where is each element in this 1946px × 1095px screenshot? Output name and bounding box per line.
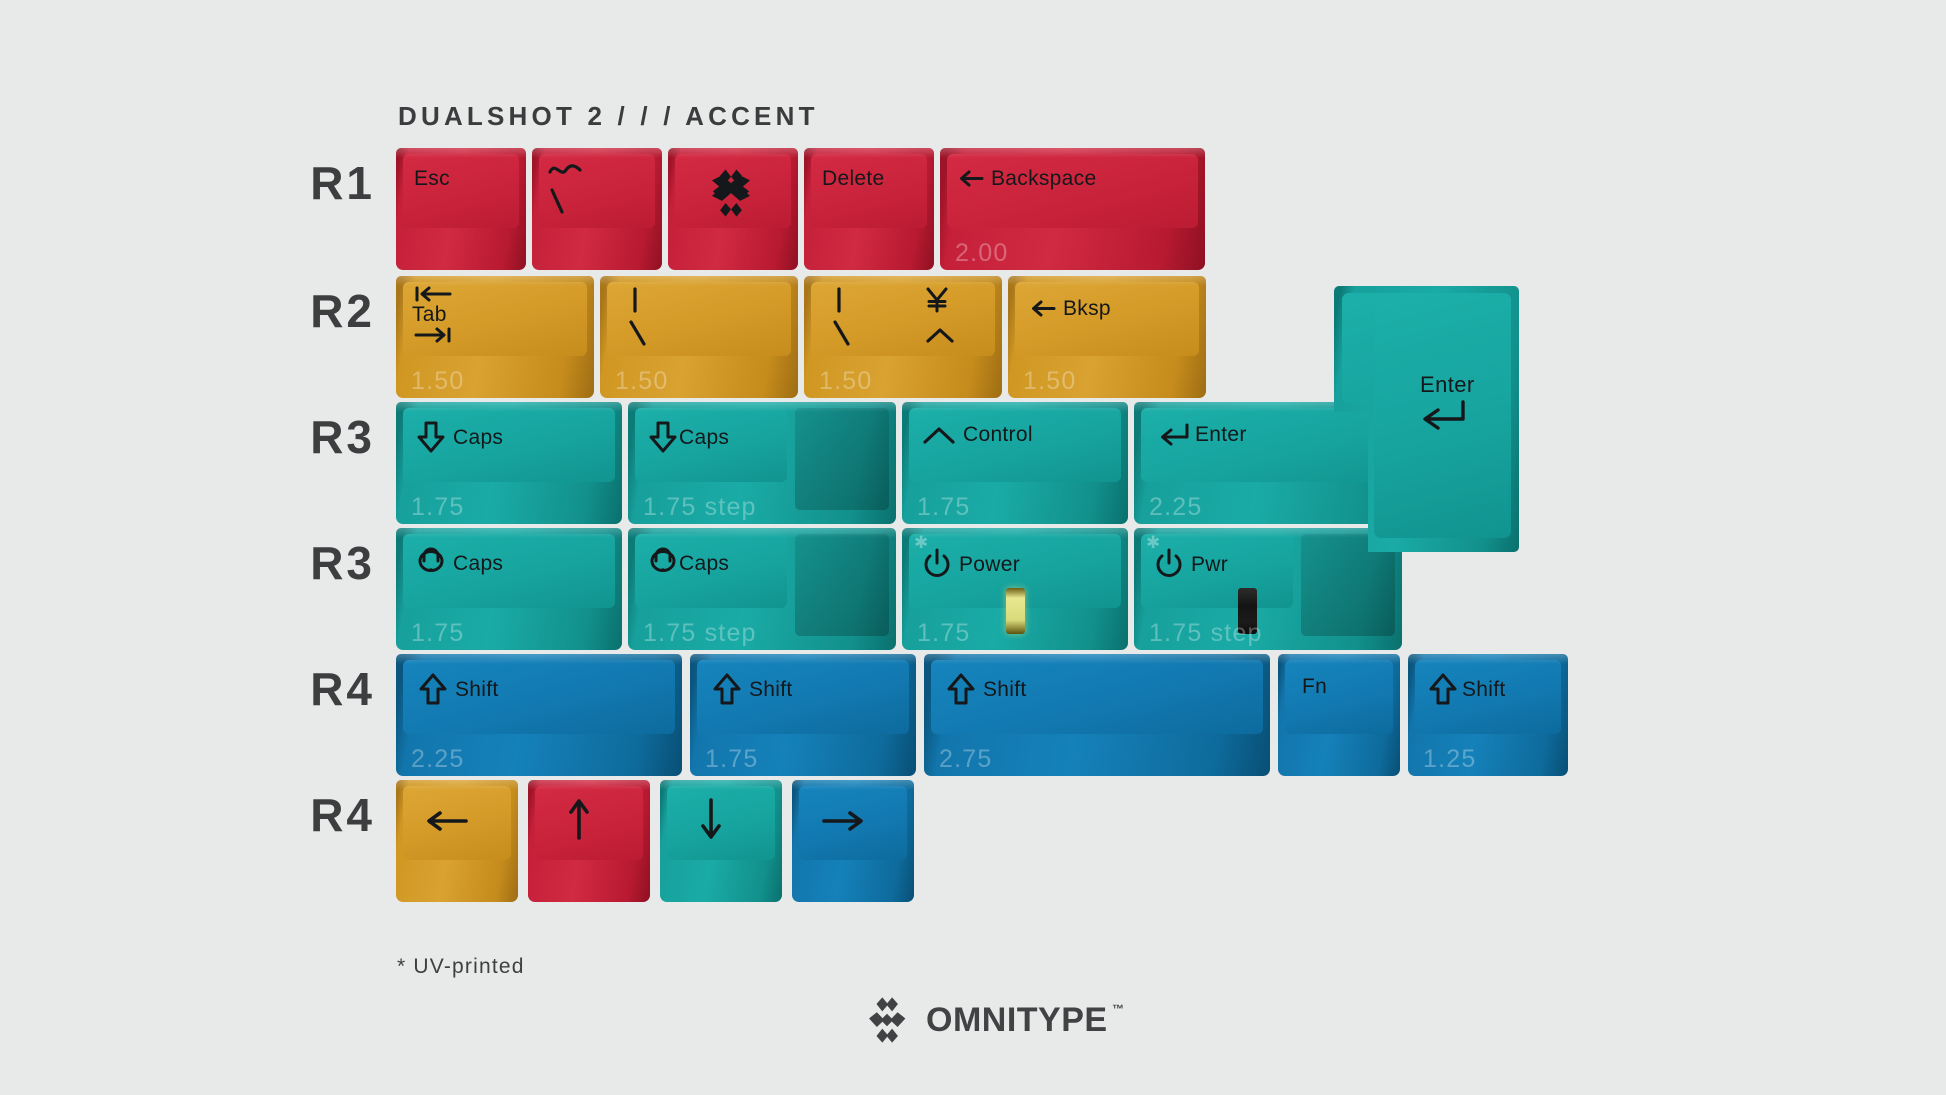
keycap-tilde[interactable]: [532, 148, 662, 270]
pipe-backslash-icon: [626, 286, 650, 348]
keycap-size-label: 1.50: [1023, 369, 1076, 394]
keycap-size-label: 1.75 step: [643, 621, 757, 646]
caret-up-icon: [922, 425, 956, 445]
keycap-size-label: 2.75: [939, 747, 992, 772]
keycap-legend-shift: Shift: [418, 672, 499, 706]
up-arrow-outline-icon: [418, 672, 448, 706]
keycap-size-label: 2.00: [955, 241, 1008, 266]
omnitype-logo-icon: [862, 995, 912, 1045]
up-arrow-outline-icon: [1428, 672, 1458, 706]
keycap-fn[interactable]: Fn: [1278, 654, 1400, 776]
keycap-shift-125[interactable]: Shift 1.25: [1408, 654, 1568, 776]
yen-caret-icon: [924, 286, 956, 344]
power-symbol-icon: [922, 548, 952, 580]
keycap-legend-fn: Fn: [1302, 676, 1327, 697]
keycap-arrow-down[interactable]: [660, 780, 782, 902]
omnitype-mark-icon: [702, 164, 760, 222]
keycap-caps-lock[interactable]: Caps 1.75: [396, 528, 622, 650]
keycap-arrow-up[interactable]: [528, 780, 650, 902]
keycap-legend-delete: Delete: [822, 168, 885, 189]
keycap-legend-power: Power: [922, 548, 1020, 580]
keycap-size-label: 1.50: [411, 369, 464, 394]
keycap-tab[interactable]: Tab 1.50: [396, 276, 594, 398]
power-symbol-icon: [1154, 548, 1184, 580]
keycap-power-step[interactable]: ✱ Pwr 1.75 step: [1134, 528, 1402, 650]
keycap-legend-caps-lock-step: Caps: [648, 546, 729, 580]
brand-name: OMNITYPE ™: [926, 1001, 1108, 1040]
keycap-legend-tab: Tab: [412, 286, 454, 343]
keycap-pipe-backslash[interactable]: 1.50: [600, 276, 798, 398]
arrow-left-icon: [958, 170, 984, 187]
keycap-top-surface: [947, 154, 1198, 228]
keycap-backspace[interactable]: Backspace 2.00: [940, 148, 1205, 270]
up-arrow-outline-icon: [946, 672, 976, 706]
keycap-size-label: 1.50: [615, 369, 668, 394]
keycap-legend-shift: Shift: [1428, 672, 1506, 706]
keycap-jis-yen[interactable]: 1.50: [804, 276, 1002, 398]
keycap-arrow-left[interactable]: [396, 780, 518, 902]
arrow-down-icon: [700, 796, 722, 842]
keycap-power[interactable]: ✱ Power 1.75: [902, 528, 1128, 650]
keycap-top-surface: [403, 154, 519, 228]
trademark-symbol: ™: [1112, 1002, 1125, 1016]
keycap-legend-caps-step: Caps: [648, 420, 729, 454]
arrow-left-icon: [1030, 300, 1056, 317]
keycap-size-label: 1.75: [917, 621, 970, 646]
keycap-caps-lock-step[interactable]: Caps 1.75 step: [628, 528, 896, 650]
keycap-legend-esc: Esc: [414, 168, 450, 189]
keycap-size-label: 1.75 step: [1149, 621, 1263, 646]
keycap-delete[interactable]: Delete: [804, 148, 934, 270]
enter-arrow-icon: [1416, 398, 1470, 432]
down-arrow-outline-icon: [648, 420, 678, 454]
lock-outline-icon: [648, 546, 678, 580]
keycap-legend-bksp: Bksp: [1030, 298, 1111, 319]
keycap-legend-backspace: Backspace: [958, 168, 1096, 189]
keycap-shift-275[interactable]: Shift 2.75: [924, 654, 1270, 776]
keycap-size-label: 1.25: [1423, 747, 1476, 772]
keycap-legend-shift: Shift: [712, 672, 793, 706]
keycap-size-label: 1.75 step: [643, 495, 757, 520]
power-led-indicator-on: [1006, 588, 1025, 634]
brand-lockup: OMNITYPE ™: [862, 995, 1108, 1045]
keycap-size-label: 1.75: [705, 747, 758, 772]
keycap-size-label: 2.25: [1149, 495, 1202, 520]
keycap-size-label: 1.75: [411, 495, 464, 520]
keycap-top-surface: [811, 154, 927, 228]
keycap-size-label: 1.50: [819, 369, 872, 394]
keycap-legend-caps-lock: Caps: [416, 546, 503, 580]
tab-arrows-icon: [412, 286, 454, 302]
enter-arrow-icon: [1156, 422, 1190, 446]
keycap-size-label: 1.75: [917, 495, 970, 520]
keycap-control[interactable]: Control 1.75: [902, 402, 1128, 524]
arrow-right-icon: [820, 810, 866, 832]
pipe-backslash-icon: [830, 286, 854, 348]
keycap-shift-175[interactable]: Shift 1.75: [690, 654, 916, 776]
keycap-legend-enter: Enter: [1156, 422, 1247, 446]
keycap-set-render: DUALSHOT 2 / / / ACCENT R1 R2 R3 R3 R4 R…: [0, 0, 1946, 1095]
arrow-up-icon: [568, 796, 590, 842]
keycap-size-label: 1.75: [411, 621, 464, 646]
keycap-legend-iso-enter: Enter: [1420, 372, 1475, 398]
keycap-step-face: [795, 408, 889, 510]
keycap-size-label: 2.25: [411, 747, 464, 772]
keycap-caps-arrow[interactable]: Caps 1.75: [396, 402, 622, 524]
keycap-bksp[interactable]: Bksp 1.50: [1008, 276, 1206, 398]
tilde-grave-icon: [548, 160, 584, 216]
keycap-legend-shift: Shift: [946, 672, 1027, 706]
down-arrow-outline-icon: [416, 420, 446, 454]
keycap-caps-arrow-step[interactable]: Caps 1.75 step: [628, 402, 896, 524]
keycap-legend-caps: Caps: [416, 420, 503, 454]
keycap-step-face: [795, 534, 889, 636]
up-arrow-outline-icon: [712, 672, 742, 706]
keycap-legend-power-step: Pwr: [1154, 548, 1228, 580]
keycap-legend-control: Control: [922, 424, 1033, 445]
keycap-esc[interactable]: Esc: [396, 148, 526, 270]
keycap-arrow-right[interactable]: [792, 780, 914, 902]
lock-outline-icon: [416, 546, 446, 580]
keycap-shift-225[interactable]: Shift 2.25: [396, 654, 682, 776]
arrow-left-icon: [424, 810, 470, 832]
keycap-omnitype-badge[interactable]: [668, 148, 798, 270]
uv-printed-footnote: * UV-printed: [397, 955, 525, 979]
